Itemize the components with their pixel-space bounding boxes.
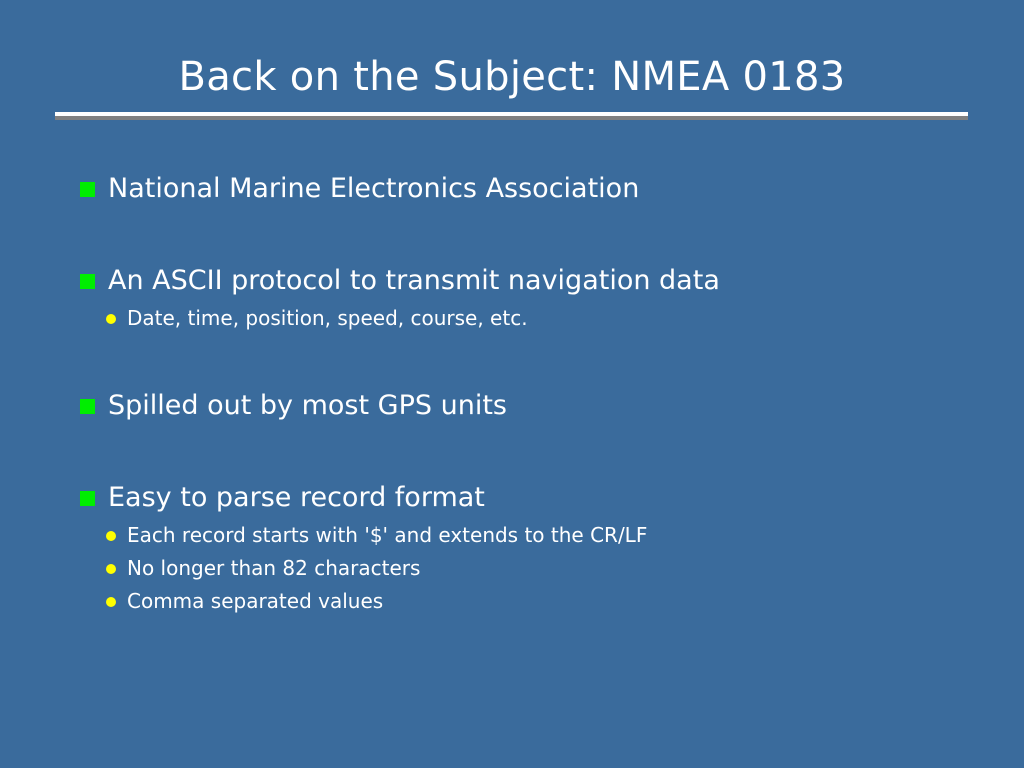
bullet-item-level1: National Marine Electronics Association <box>0 168 1024 210</box>
bullet-text: An ASCII protocol to transmit navigation… <box>108 265 720 296</box>
round-bullet-icon <box>106 564 116 574</box>
slide-title-block: Back on the Subject: NMEA 0183 <box>0 52 1024 102</box>
title-divider <box>55 112 968 120</box>
bullet-item-level2: No longer than 82 characters <box>0 552 1024 585</box>
round-bullet-icon <box>106 314 116 324</box>
round-bullet-icon <box>106 531 116 541</box>
bullet-item-level2: Each record starts with '$' and extends … <box>0 519 1024 552</box>
page-title: Back on the Subject: NMEA 0183 <box>0 52 1024 102</box>
bullet-item-level2: Date, time, position, speed, course, etc… <box>0 302 1024 335</box>
divider-shadow <box>55 116 968 120</box>
bullet-text: Easy to parse record format <box>108 482 485 513</box>
bullet-item-level2: Comma separated values <box>0 585 1024 618</box>
presentation-slide: Back on the Subject: NMEA 0183 National … <box>0 0 1024 768</box>
square-bullet-icon <box>80 491 95 506</box>
round-bullet-icon <box>106 597 116 607</box>
bullet-text: No longer than 82 characters <box>127 556 420 580</box>
bullet-text: Each record starts with '$' and extends … <box>127 523 647 547</box>
bullet-item-level1: An ASCII protocol to transmit navigation… <box>0 260 1024 302</box>
square-bullet-icon <box>80 274 95 289</box>
bullet-item-level1: Spilled out by most GPS units <box>0 385 1024 427</box>
bullet-text: National Marine Electronics Association <box>108 173 639 204</box>
square-bullet-icon <box>80 399 95 414</box>
slide-body-list: National Marine Electronics Association … <box>0 168 1024 618</box>
bullet-text: Spilled out by most GPS units <box>108 390 507 421</box>
bullet-text: Date, time, position, speed, course, etc… <box>127 306 528 330</box>
bullet-text: Comma separated values <box>127 589 383 613</box>
square-bullet-icon <box>80 182 95 197</box>
bullet-item-level1: Easy to parse record format <box>0 477 1024 519</box>
